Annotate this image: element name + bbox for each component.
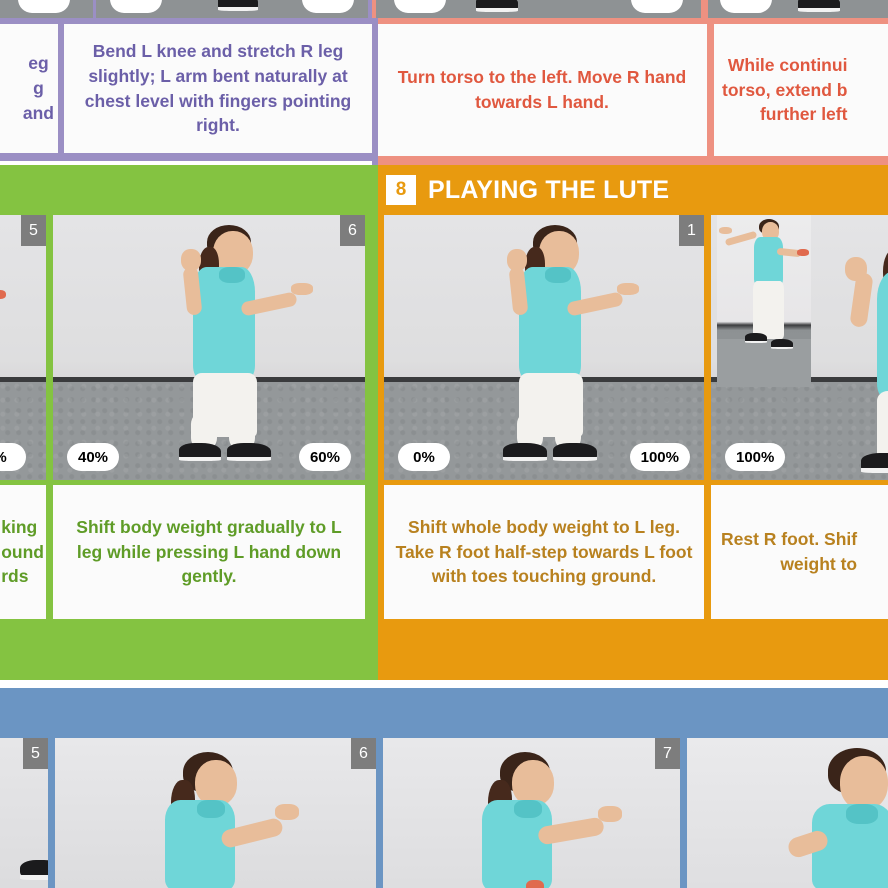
- caption-cell-truncated: eg g and: [0, 24, 58, 153]
- orange-photo-strip: 1 0% 100%: [378, 215, 888, 480]
- percentage-badge: [394, 0, 446, 13]
- photo-frame[interactable]: 5: [0, 738, 48, 888]
- caption-cell: Shift body weight gradually to L leg whi…: [53, 485, 365, 619]
- section-orange: 8 PLAYING THE LUTE 1: [378, 165, 888, 680]
- percentage-badge: [720, 0, 772, 13]
- photo-frame[interactable]: 7: [383, 738, 680, 888]
- photo-number-badge: 5: [23, 738, 48, 769]
- green-section-header: [0, 165, 372, 215]
- photo-number-badge: 7: [655, 738, 680, 769]
- salmon-caption-band: Turn torso to the left. Move R hand towa…: [372, 18, 888, 166]
- percentage-badge: 100%: [630, 443, 690, 471]
- percentage-badge: [631, 0, 683, 13]
- caption-cell-truncated: king ound rds: [0, 485, 46, 619]
- photo-number-badge: 6: [351, 738, 376, 769]
- instruction-chart-page: eg g and Bend L knee and stretch R leg s…: [0, 0, 888, 888]
- caption-cell-truncated: While continui torso, extend b further l…: [714, 24, 888, 156]
- section-seam: [372, 18, 378, 166]
- green-caption-row: king ound rds Shift body weight graduall…: [0, 480, 372, 625]
- green-photo-strip: 5 % 6: [0, 215, 372, 480]
- section-seam: [372, 165, 378, 680]
- photo-frame[interactable]: 5 %: [0, 215, 46, 480]
- figure-photo: [823, 215, 888, 480]
- photo-frame[interactable]: 6: [53, 215, 365, 480]
- orange-section-header: 8 PLAYING THE LUTE: [378, 165, 888, 215]
- caption-cell: Shift whole body weight to L leg. Take R…: [384, 485, 704, 619]
- percentage-badge: [18, 0, 70, 13]
- orange-caption-row: Shift whole body weight to L leg. Take R…: [378, 480, 888, 625]
- section-blue: 5 6: [0, 688, 888, 888]
- photo-frame[interactable]: [687, 738, 888, 888]
- figure-photo: [754, 738, 888, 888]
- photo-frame[interactable]: 100%: [711, 215, 888, 480]
- photo-number-badge: 5: [21, 215, 46, 246]
- photo-frame[interactable]: 6: [55, 738, 376, 888]
- figure-photo: [115, 215, 315, 480]
- caption-cell-truncated: Rest R foot. Shif weight to: [711, 485, 888, 619]
- figure-photo: [416, 738, 636, 888]
- figure-photo: [99, 738, 319, 888]
- section-title: PLAYING THE LUTE: [428, 176, 669, 205]
- caption-cell: Turn torso to the left. Move R hand towa…: [377, 24, 707, 156]
- blue-section-header: [0, 688, 888, 738]
- figure-photo: [441, 215, 641, 480]
- percentage-badge: 40%: [67, 443, 119, 471]
- photo-number-badge: 1: [679, 215, 704, 246]
- inset-photo[interactable]: [717, 215, 811, 387]
- caption-cell: Bend L knee and stretch R leg slightly; …: [64, 24, 372, 153]
- section-green: 5 % 6: [0, 165, 372, 680]
- photo-frame[interactable]: 1 0% 100%: [384, 215, 704, 480]
- blue-photo-strip: 5 6: [0, 738, 888, 888]
- photo-number-badge: 6: [340, 215, 365, 246]
- section-number-badge: 8: [386, 175, 416, 205]
- percentage-badge: [302, 0, 354, 13]
- percentage-badge: 100%: [725, 443, 785, 471]
- percentage-badge: 60%: [299, 443, 351, 471]
- percentage-badge: 0%: [398, 443, 450, 471]
- percentage-badge: [110, 0, 162, 13]
